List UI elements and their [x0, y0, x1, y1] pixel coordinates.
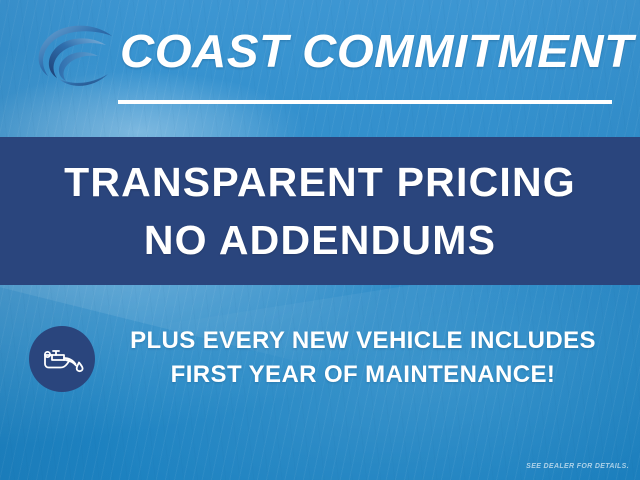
perk-line-2: FIRST YEAR OF MAINTENANCE! [108, 358, 618, 392]
perk-line-1: PLUS EVERY NEW VEHICLE INCLUDES [108, 324, 618, 358]
oil-can-icon [29, 326, 95, 392]
banner-header: COAST COMMITMENT [0, 0, 640, 137]
headline-line-2: NO ADDENDUMS [144, 211, 496, 269]
disclaimer-text: SEE DEALER FOR DETAILS. [526, 463, 629, 470]
coast-commitment-banner: COAST COMMITMENT TRANSPARENT PRICING NO … [0, 0, 640, 480]
headline-band: TRANSPARENT PRICING NO ADDENDUMS [0, 137, 640, 285]
perk-row: PLUS EVERY NEW VEHICLE INCLUDES FIRST YE… [0, 326, 640, 400]
brand-title: COAST COMMITMENT [120, 23, 635, 79]
perk-text: PLUS EVERY NEW VEHICLE INCLUDES FIRST YE… [108, 324, 618, 392]
headline-line-1: TRANSPARENT PRICING [64, 153, 576, 211]
header-divider-rule [118, 100, 612, 104]
coast-wave-logo [24, 16, 120, 88]
